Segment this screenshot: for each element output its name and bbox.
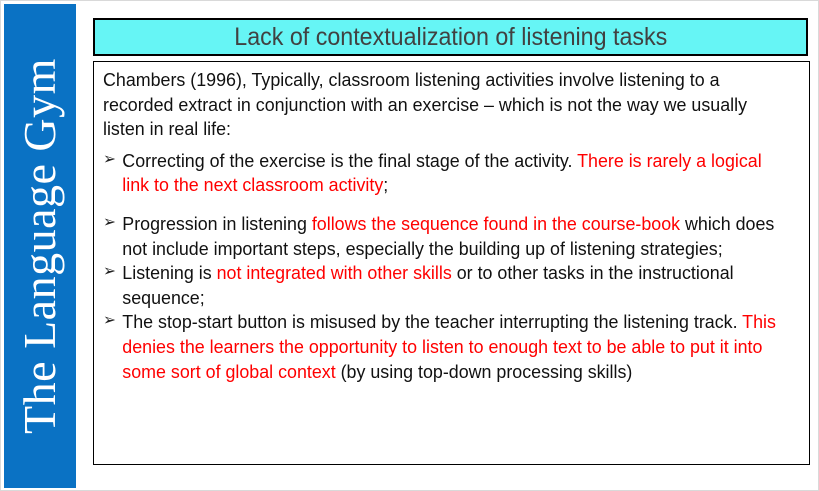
- bullet-text-plain: Progression in listening: [122, 213, 312, 234]
- bullet-text-highlight: follows the sequence found in the course…: [312, 213, 680, 234]
- bullet-text-plain: Correcting of the exercise is the final …: [122, 150, 577, 171]
- bullet-item: ➢Listening is not integrated with other …: [103, 261, 777, 310]
- brand-title: The Language Gym: [17, 58, 63, 434]
- intro-paragraph: Chambers (1996), Typically, classroom li…: [103, 68, 777, 142]
- slide: The Language Gym Lack of contextualizati…: [0, 0, 819, 491]
- bullet-text: Correcting of the exercise is the final …: [122, 150, 761, 196]
- bullet-arrow-icon: ➢: [103, 148, 116, 171]
- bullet-arrow-icon: ➢: [103, 211, 116, 234]
- bullet-text-plain: ;: [383, 174, 388, 195]
- bullet-text-highlight: not integrated with other skills: [217, 262, 452, 283]
- slide-title: Lack of contextualization of listening t…: [234, 24, 667, 50]
- bullet-text-plain: The stop-start button is misused by the …: [122, 311, 742, 332]
- bullet-text: Progression in listening follows the seq…: [122, 213, 774, 259]
- bullet-item: ➢The stop-start button is misused by the…: [103, 310, 777, 384]
- bullet-list: ➢Correcting of the exercise is the final…: [103, 149, 801, 384]
- bullet-text: The stop-start button is misused by the …: [122, 311, 776, 381]
- bullet-item: ➢Progression in listening follows the se…: [103, 212, 777, 261]
- bullet-text: Listening is not integrated with other s…: [122, 262, 733, 308]
- slide-title-box: Lack of contextualization of listening t…: [93, 18, 808, 56]
- slide-content-box: Chambers (1996), Typically, classroom li…: [93, 61, 810, 465]
- bullet-item: ➢Correcting of the exercise is the final…: [103, 149, 777, 198]
- brand-sidebar: The Language Gym: [4, 4, 76, 488]
- bullet-text-plain: Listening is: [122, 262, 216, 283]
- bullet-text-plain: (by using top-down processing skills): [336, 361, 633, 382]
- bullet-arrow-icon: ➢: [103, 260, 116, 283]
- bullet-arrow-icon: ➢: [103, 309, 116, 332]
